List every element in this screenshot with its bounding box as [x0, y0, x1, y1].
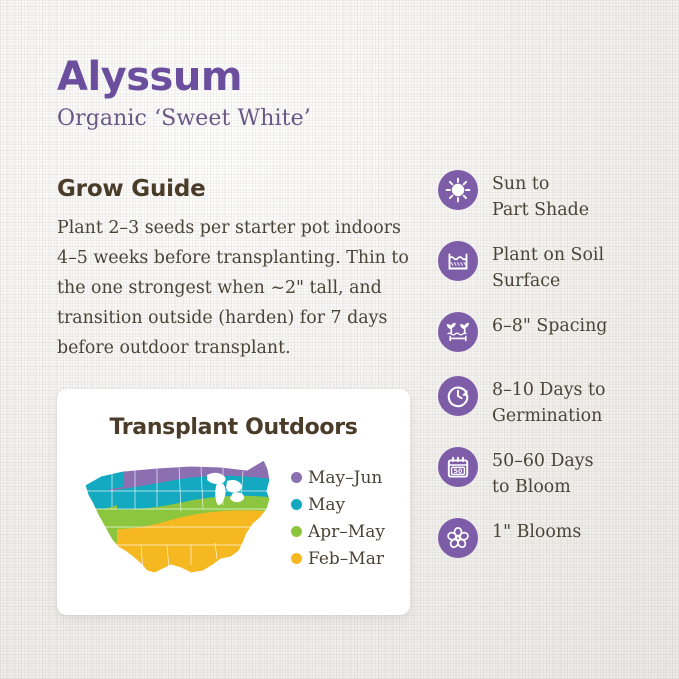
- clock-icon: [438, 376, 478, 416]
- legend-dot-apr-may: [291, 526, 302, 537]
- fact-item-sun: Sun toPart Shade: [438, 168, 668, 223]
- map-legend: May–Jun May Apr–May Feb–Mar: [291, 468, 385, 576]
- map-climate-bands: [71, 447, 285, 592]
- plant-spacing-icon: [438, 312, 478, 352]
- legend-item: May: [291, 495, 385, 515]
- grow-guide-heading: Grow Guide: [57, 176, 205, 202]
- fact-label-bloom-size: 1" Blooms: [492, 516, 581, 545]
- legend-label-apr-may: Apr–May: [308, 522, 385, 542]
- legend-label-may: May: [308, 495, 345, 515]
- map-card-title: Transplant Outdoors: [57, 415, 410, 441]
- united-states-planting-zone-map: [71, 447, 285, 596]
- fact-label-germination: 8–10 Days toGermination: [492, 374, 605, 429]
- fact-label-sun: Sun toPart Shade: [492, 168, 589, 223]
- fact-item-spacing: 6–8" Spacing: [438, 310, 668, 358]
- legend-label-feb-mar: Feb–Mar: [308, 549, 384, 569]
- fact-label-days-to-bloom: 50–60 Daysto Bloom: [492, 445, 594, 500]
- fact-label-planting-depth: Plant on SoilSurface: [492, 239, 604, 294]
- seed-packet-background: Alyssum Organic ‘Sweet White’ Grow Guide…: [0, 0, 679, 679]
- fact-item-days-to-bloom: 50 50–60 Daysto Bloom: [438, 445, 668, 500]
- grow-guide-body: Plant 2–3 seeds per starter pot indoors …: [57, 213, 413, 363]
- packet-header: Alyssum Organic ‘Sweet White’: [57, 55, 311, 133]
- sun-icon: [438, 170, 478, 210]
- fact-list: Sun toPart Shade Plant on SoilSurface: [438, 168, 668, 580]
- fact-item-bloom-size: 1" Blooms: [438, 516, 668, 564]
- fact-item-germination: 8–10 Days toGermination: [438, 374, 668, 429]
- legend-item: Apr–May: [291, 522, 385, 542]
- legend-label-may-jun: May–Jun: [308, 468, 382, 488]
- legend-dot-feb-mar: [291, 553, 302, 564]
- legend-dot-may: [291, 499, 302, 510]
- fact-label-spacing: 6–8" Spacing: [492, 310, 607, 339]
- calendar-icon: 50: [438, 447, 478, 487]
- legend-item: Feb–Mar: [291, 549, 385, 569]
- legend-dot-may-jun: [291, 472, 302, 483]
- fact-item-planting-depth: Plant on SoilSurface: [438, 239, 668, 294]
- calendar-badge-number: 50: [454, 467, 463, 475]
- soil-surface-icon: [438, 241, 478, 281]
- legend-item: May–Jun: [291, 468, 385, 488]
- page-title: Alyssum: [57, 55, 311, 99]
- transplant-map-card: Transplant Outdoors: [57, 389, 410, 615]
- page-subtitle: Organic ‘Sweet White’: [57, 105, 311, 133]
- flower-icon: [438, 518, 478, 558]
